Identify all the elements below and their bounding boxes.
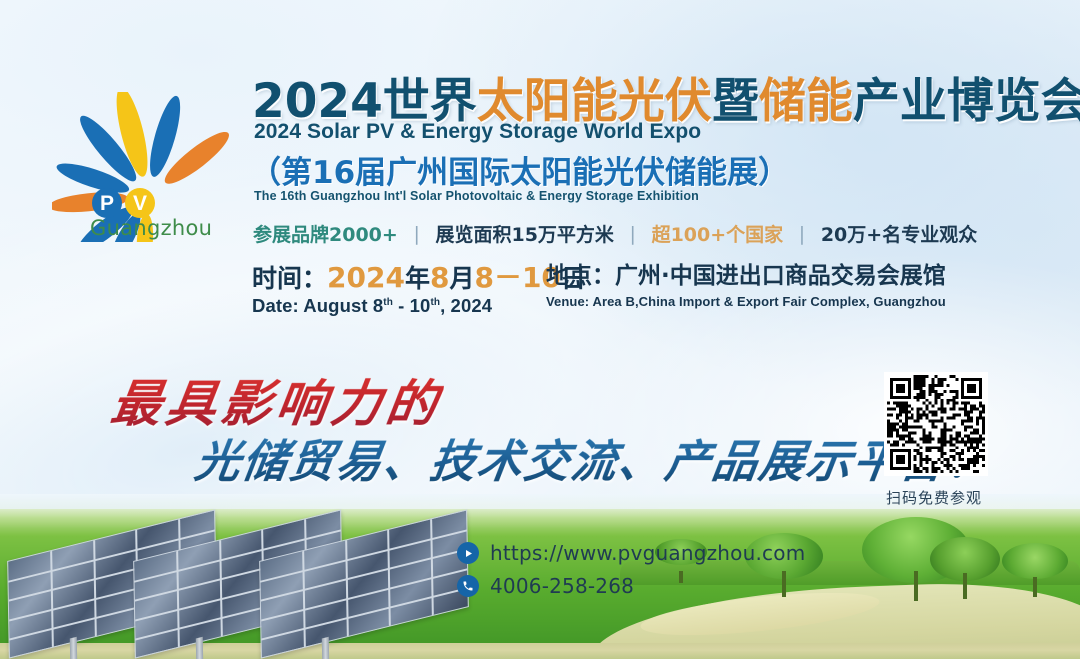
expo-promo-banner: P V Guangzhou 2024世界太阳能光伏暨储能产业博览会 2024 S… [0,0,1080,659]
date-english: Date: August 8th - 10th, 2024 [252,295,586,317]
stat-separator: | [404,223,428,245]
stats-row: 参展品牌2000+ | 展览面积15万平方米 | 超100+个国家 | 20万+… [253,220,977,247]
tree-trunk [1033,577,1037,597]
phone-circle-icon [457,575,479,597]
stat-visitors: 20万+名专业观众 [821,224,977,246]
pv-guangzhou-logo: P V Guangzhou [52,92,242,272]
title-part-5: 产业博览会 [853,74,1080,129]
panel-post [196,637,204,659]
panel-post [70,637,78,659]
title-english: 2024 Solar PV & Energy Storage World Exp… [254,120,701,144]
play-circle-icon [457,542,479,564]
tree [1002,545,1068,597]
qr-code-caption: 扫码免费参观 [876,487,992,508]
tree-crown [1002,543,1068,579]
qr-code-block: 扫码免费参观 [884,372,992,508]
title-part-4: 储能 [759,74,853,129]
stat-separator: | [790,223,814,245]
logo-letter-v: V [125,188,155,218]
date-en-mid: - 10 [393,295,431,316]
venue-label: 地点： [546,263,615,289]
date-en-suffix: , 2024 [440,295,492,316]
date-month: 8 [430,261,449,294]
date-en-sup-2: th [430,297,440,308]
phone-row[interactable]: 4006-258-268 [457,574,805,598]
event-venue-block: 地点：广州·中国进出口商品交易会展馆 Venue: Area B,China I… [546,263,946,309]
stat-countries: 超100+个国家 [652,224,784,246]
tree-trunk [963,573,967,599]
phone-number[interactable]: 4006-258-268 [490,574,634,598]
tree-trunk [914,571,918,601]
date-label: 时间： [252,264,327,293]
slogan-line-2: 光储贸易、技术交流、产品展示平台！ [191,425,999,490]
venue-value: 广州·中国进出口商品交易会展馆 [615,263,946,289]
venue-english: Venue: Area B,China Import & Export Fair… [546,294,946,309]
date-year: 2024 [327,261,405,294]
website-row[interactable]: https://www.pvguangzhou.com [457,541,805,565]
title-subtitle-chinese: （第16届广州国际太阳能光伏储能展） [250,147,789,192]
venue-chinese: 地点：广州·中国进出口商品交易会展馆 [546,263,946,289]
stat-brands: 参展品牌2000+ [253,224,398,246]
date-month-unit: 月 [449,264,474,293]
stat-area: 展览面积15万平方米 [435,224,613,246]
date-en-sup-1: th [383,297,393,308]
qr-code-image[interactable] [884,372,988,476]
title-part-3: 暨 [712,74,759,129]
contact-block: https://www.pvguangzhou.com 4006-258-268 [457,541,805,607]
logo-wordmark: P V Guangzhou [92,188,252,240]
website-url[interactable]: https://www.pvguangzhou.com [490,541,805,565]
solar-panel-array [4,499,404,659]
date-year-unit: 年 [405,264,430,293]
date-en-prefix: Date: August 8 [252,295,383,316]
logo-letter-p: P [92,188,122,218]
date-chinese: 时间：2024年8月8－10日 [252,262,586,293]
stat-separator: | [621,223,645,245]
panel-post [322,637,330,659]
event-date-block: 时间：2024年8月8－10日 Date: August 8th - 10th,… [252,262,586,317]
tree [930,537,1000,599]
logo-city-label: Guangzhou [90,216,252,240]
title-subtitle-english: The 16th Guangzhou Int'l Solar Photovolt… [254,189,699,203]
